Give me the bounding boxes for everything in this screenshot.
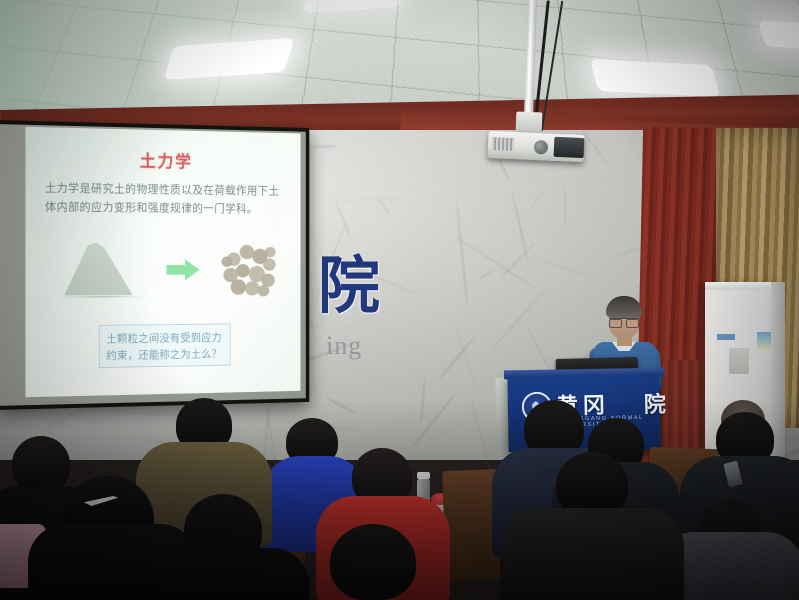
projector-vent [492,137,515,151]
slide-question-line-1: 土颗粒之间没有受到应力 [106,329,225,347]
soil-particles-illustration [222,243,278,299]
slide-question-line-2: 约束，还能称之为土么？ [106,346,225,364]
projected-slide: 土力学 土力学是研究土的物理性质以及在荷载作用下土体内部的应力变形和强度规律的一… [25,127,300,397]
soil-grain [222,256,233,267]
projection-screen-frame: 土力学 土力学是研究土的物理性质以及在荷载作用下土体内部的应力变形和强度规律的一… [0,120,309,410]
presenter-hair [606,296,642,318]
presenter-glasses [609,318,639,326]
soil-pile-illustration [57,240,144,301]
audience-head [12,436,70,492]
arrow-head [185,259,200,280]
wall-sign-chinese: 院 [318,255,380,317]
ceiling-projector [487,131,584,162]
audience-shoulders [500,508,684,600]
soil-grain [258,285,270,296]
wall-sign-english: ing [326,331,362,361]
soil-grain [263,258,276,270]
wall-sign: 院 ing [312,255,432,360]
ac-side-panel [771,282,785,457]
projector-lens [534,140,549,155]
projector-mount-bracket [516,112,543,135]
audience-head [330,524,416,600]
slide-body-text: 土力学是研究土的物理性质以及在荷载作用下土体内部的应力变形和强度规律的一门学科。 [45,179,288,219]
soil-grain [265,247,276,257]
soil-pile-shape [64,242,133,295]
panel-light-2 [590,59,721,97]
projector-port-panel [554,137,585,158]
arrow-right-icon [166,259,199,280]
slide-question-box: 土颗粒之间没有受到应力 约束，还能称之为土么？ [99,323,231,368]
soil-pile-baseline [57,296,144,298]
soil-grain [236,264,250,277]
ac-brand-badge [717,334,735,340]
audience-shoulders [144,548,310,600]
soil-grain [231,279,246,294]
slide-title: 土力学 [25,145,300,175]
arrow-shaft [166,265,186,275]
lecture-hall-photo: 院 ing 土力学 土力学是研究土的物理性质以及在荷载作用下土体内部的应力变形和… [0,0,799,600]
ac-display-panel[interactable] [729,348,749,374]
